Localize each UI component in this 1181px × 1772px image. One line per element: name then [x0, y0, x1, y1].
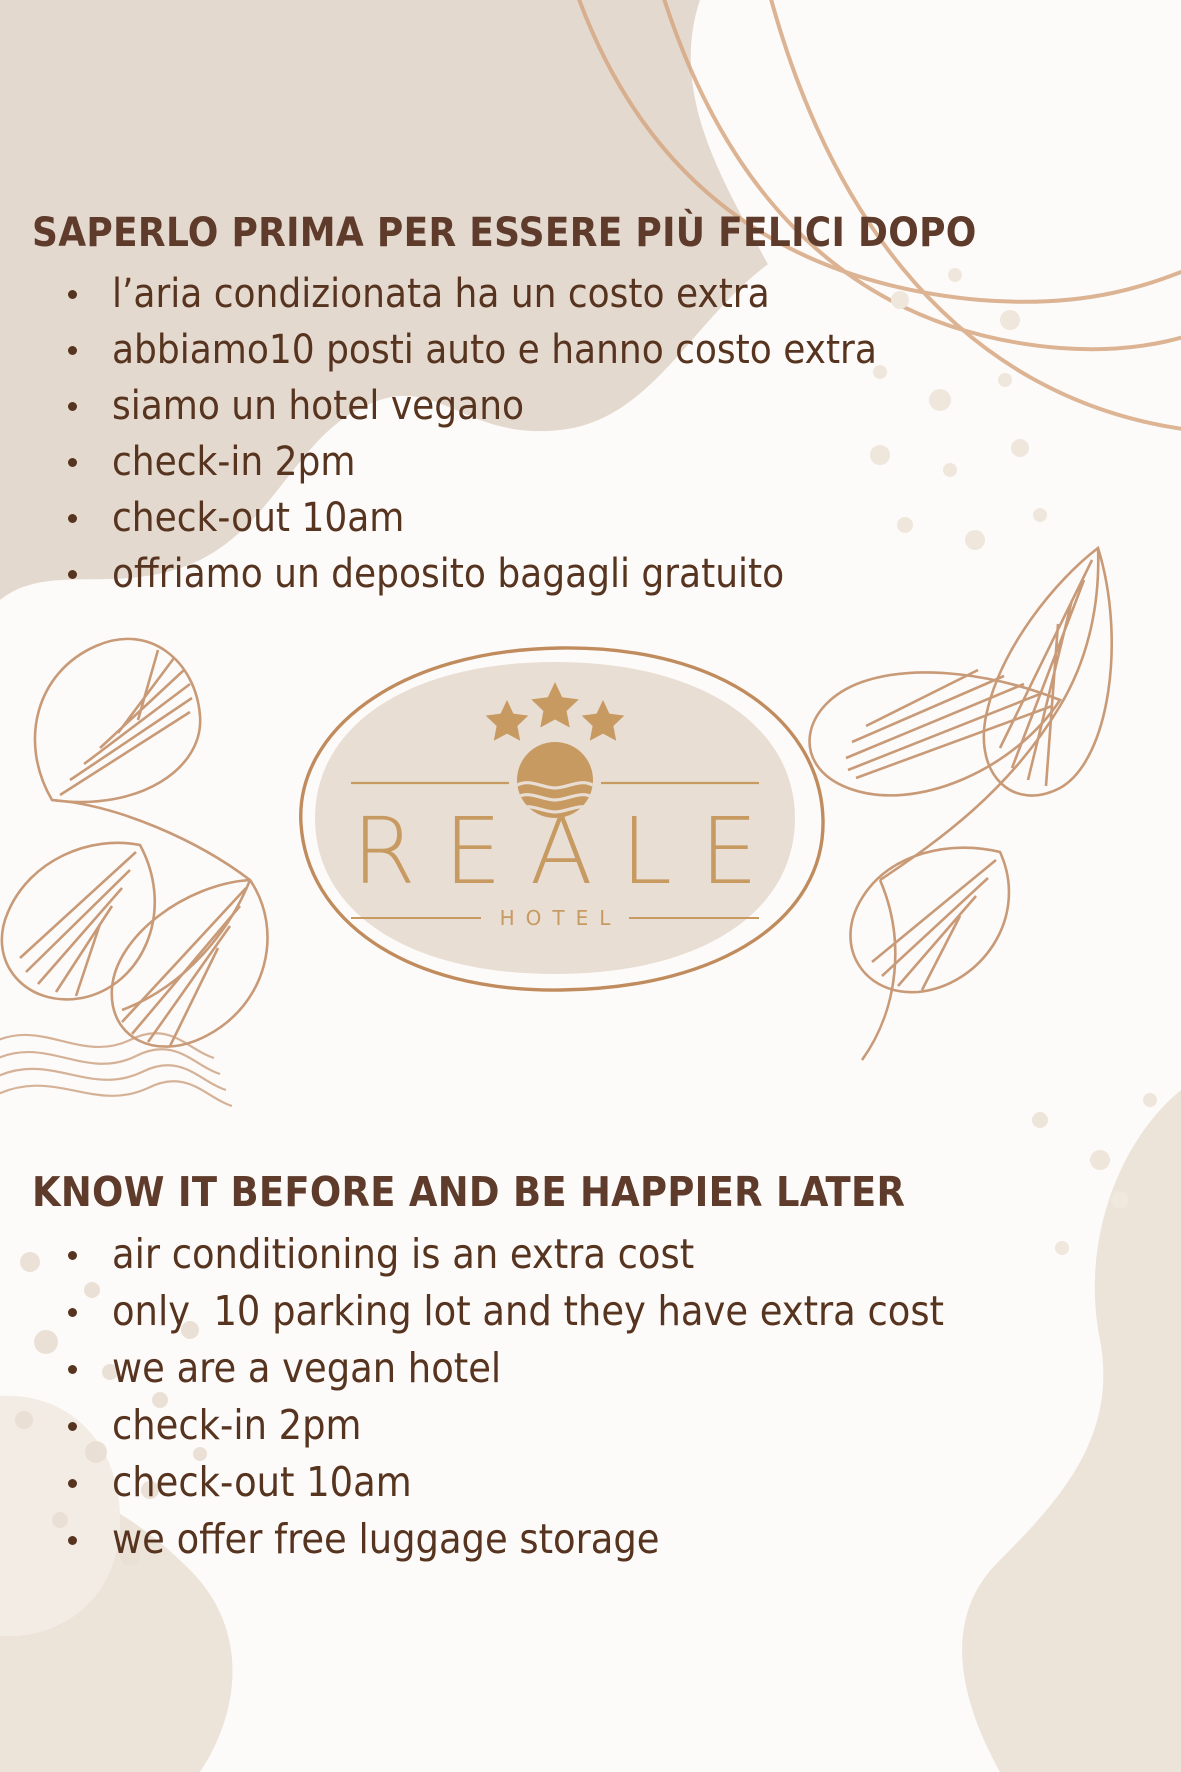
list-item-text: l’aria condizionata ha un costo extra	[112, 271, 770, 317]
list-item-text: only 10 parking lot and they have extra …	[112, 1287, 944, 1335]
list-item-text: check-in 2pm	[112, 1401, 361, 1449]
bullet-dot-icon	[68, 402, 77, 411]
bullet-dot-icon	[68, 346, 77, 355]
bullet-dot-icon	[68, 290, 77, 299]
list-item: check-out 10am	[0, 490, 1181, 546]
blob-top-white-carve-2	[1080, 0, 1181, 140]
italian-bullet-list: l’aria condizionata ha un costo extra ab…	[0, 266, 1181, 602]
bullet-dot-icon	[68, 570, 77, 579]
poster: SAPERLO PRIMA PER ESSERE PIÙ FELICI DOPO…	[0, 0, 1181, 1772]
list-item-text: we offer free luggage storage	[112, 1515, 660, 1563]
bullet-dot-icon	[68, 1308, 77, 1317]
bullet-dot-icon	[68, 1479, 77, 1488]
list-item-text: air conditioning is an extra cost	[112, 1230, 694, 1278]
logo-subtitle: HOTEL	[255, 906, 855, 930]
leaf-branch-left	[2, 639, 268, 1047]
english-section: KNOW IT BEFORE AND BE HAPPIER LATER air …	[0, 1168, 1181, 1568]
italian-section: SAPERLO PRIMA PER ESSERE PIÙ FELICI DOPO…	[0, 210, 1181, 602]
list-item-text: check-in 2pm	[112, 439, 355, 485]
bullet-dot-icon	[68, 1365, 77, 1374]
dot-cluster-right-lower	[1032, 1093, 1157, 1170]
english-heading: KNOW IT BEFORE AND BE HAPPIER LATER	[32, 1168, 1181, 1216]
list-item: check-in 2pm	[0, 1397, 1181, 1454]
wave-lines-left	[0, 1033, 232, 1106]
bullet-dot-icon	[68, 1536, 77, 1545]
logo-wordmark: REALE	[255, 798, 855, 905]
list-item-text: check-out 10am	[112, 1458, 412, 1506]
list-item-text: check-out 10am	[112, 495, 404, 541]
english-bullet-list: air conditioning is an extra cost only 1…	[0, 1226, 1181, 1568]
list-item: we are a vegan hotel	[0, 1340, 1181, 1397]
list-item: abbiamo10 posti auto e hanno costo extra	[0, 322, 1181, 378]
bullet-dot-icon	[68, 1251, 77, 1260]
list-item: check-in 2pm	[0, 434, 1181, 490]
list-item: l’aria condizionata ha un costo extra	[0, 266, 1181, 322]
list-item-text: we are a vegan hotel	[112, 1344, 501, 1392]
list-item: only 10 parking lot and they have extra …	[0, 1283, 1181, 1340]
list-item: we offer free luggage storage	[0, 1511, 1181, 1568]
list-item: offriamo un deposito bagagli gratuito	[0, 546, 1181, 602]
list-item: check-out 10am	[0, 1454, 1181, 1511]
italian-heading: SAPERLO PRIMA PER ESSERE PIÙ FELICI DOPO	[32, 210, 1181, 256]
hotel-logo: REALE HOTEL	[255, 628, 855, 1020]
bullet-dot-icon	[68, 458, 77, 467]
bullet-dot-icon	[68, 1422, 77, 1431]
list-item: siamo un hotel vegano	[0, 378, 1181, 434]
bullet-dot-icon	[68, 514, 77, 523]
list-item-text: siamo un hotel vegano	[112, 383, 524, 429]
list-item-text: offriamo un deposito bagagli gratuito	[112, 551, 784, 597]
list-item: air conditioning is an extra cost	[0, 1226, 1181, 1283]
list-item-text: abbiamo10 posti auto e hanno costo extra	[112, 327, 877, 373]
